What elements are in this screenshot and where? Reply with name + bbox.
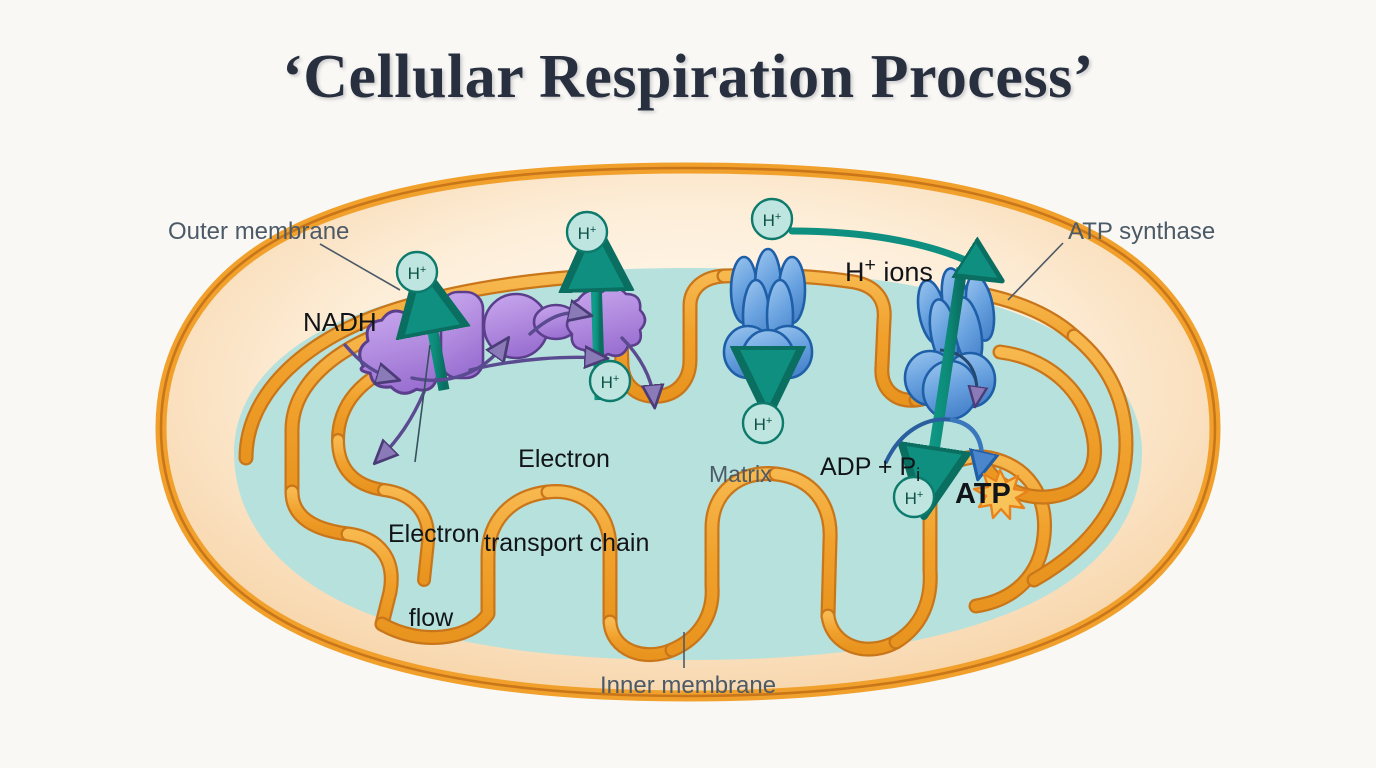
page-title: ‘Cellular Respiration Process’ <box>0 42 1376 113</box>
label-electron-transport-chain: Electron transport chain <box>484 388 644 614</box>
label-adp-pi: ADP + Pi <box>820 453 920 485</box>
proton-badge: H+ <box>752 199 792 239</box>
proton-badge: H+ <box>743 403 783 443</box>
proton-badge: H+ <box>397 252 437 292</box>
adp-prefix: ADP + P <box>820 453 916 481</box>
label-h-ions: H+ ions <box>845 255 933 288</box>
etc-line-1: Electron <box>484 445 644 473</box>
electron-flow-line-1: Electron <box>388 520 474 548</box>
diagram-canvas: H+ H+ H+ H+ H+ H+ <box>0 0 1376 768</box>
label-atp: ATP <box>955 478 1011 511</box>
label-electron-flow: Electron flow <box>388 463 474 689</box>
label-atp-synthase: ATP synthase <box>1068 218 1215 245</box>
electron-flow-line-2: flow <box>388 604 474 632</box>
etc-line-2: transport chain <box>484 529 644 557</box>
adp-subscript: i <box>916 465 920 485</box>
label-outer-membrane: Outer membrane <box>168 218 349 245</box>
label-matrix: Matrix <box>709 461 772 487</box>
label-inner-membrane: Inner membrane <box>600 672 776 699</box>
h-ions-prefix: H <box>845 257 865 287</box>
proton-badge: H+ <box>567 212 607 252</box>
h-ions-superscript: + <box>865 254 876 276</box>
mitochondrion-illustration: H+ H+ H+ H+ H+ H+ <box>0 0 1376 768</box>
h-ions-suffix: ions <box>876 257 933 287</box>
label-nadh: NADH <box>303 308 377 337</box>
